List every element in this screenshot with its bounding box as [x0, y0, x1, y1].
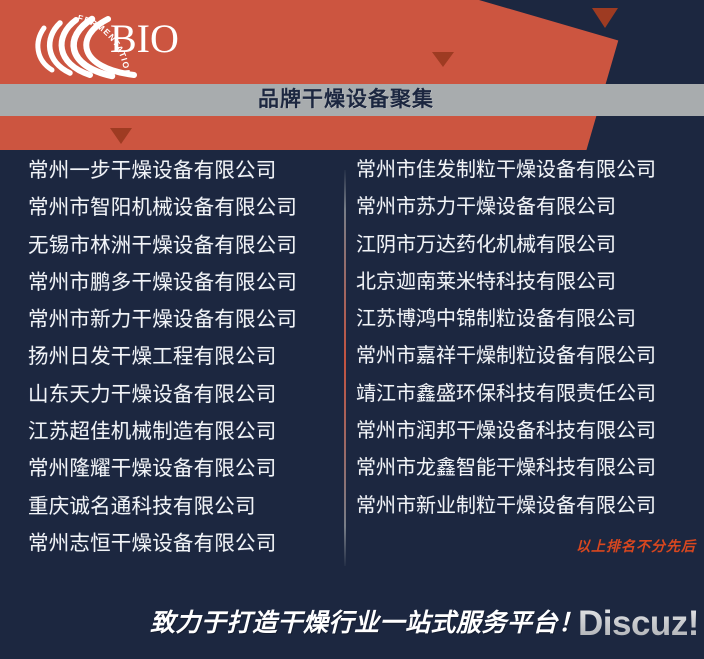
company-list-right: 常州市佳发制粒干燥设备有限公司 常州市苏力干燥设备有限公司 江阴市万达药化机械有… — [356, 152, 696, 525]
triangle-decoration-icon — [592, 8, 618, 28]
list-item: 常州市智阳机械设备有限公司 — [28, 189, 340, 226]
triangle-decoration-icon — [110, 128, 132, 144]
list-item: 常州志恒干燥设备有限公司 — [28, 525, 340, 562]
list-item: 常州市龙鑫智能干燥科技有限公司 — [356, 450, 696, 487]
list-item: 常州市新力干燥设备有限公司 — [28, 301, 340, 338]
logo-wordmark: BIO — [110, 18, 179, 60]
poster-root: FERMENTATION BIO 品牌干燥设备聚集 常州一步干燥设备有限公司 常… — [0, 0, 704, 659]
list-item: 常州市润邦干燥设备科技有限公司 — [356, 413, 696, 450]
list-item: 靖江市鑫盛环保科技有限责任公司 — [356, 376, 696, 413]
company-list-left: 常州一步干燥设备有限公司 常州市智阳机械设备有限公司 无锡市林洲干燥设备有限公司… — [28, 152, 340, 562]
company-lists: 常州一步干燥设备有限公司 常州市智阳机械设备有限公司 无锡市林洲干燥设备有限公司… — [0, 152, 704, 572]
list-item: 常州市鹏多干燥设备有限公司 — [28, 264, 340, 301]
list-item: 无锡市林洲干燥设备有限公司 — [28, 227, 340, 264]
list-item: 常州市佳发制粒干燥设备有限公司 — [356, 152, 696, 189]
list-item: 江阴市万达药化机械有限公司 — [356, 227, 696, 264]
list-item: 常州一步干燥设备有限公司 — [28, 152, 340, 189]
header: FERMENTATION BIO 品牌干燥设备聚集 — [0, 0, 704, 150]
list-item: 常州市新业制粒干燥设备有限公司 — [356, 488, 696, 525]
banner-title: 品牌干燥设备聚集 — [258, 86, 434, 114]
footer-slogan: 致力于打造干燥行业一站式服务平台！ — [150, 603, 584, 639]
list-item: 重庆诚名通科技有限公司 — [28, 488, 340, 525]
list-item: 江苏超佳机械制造有限公司 — [28, 413, 340, 450]
column-divider — [344, 170, 346, 566]
bio-fermentation-logo: FERMENTATION BIO — [28, 12, 196, 84]
list-item: 常州市嘉祥干燥制粒设备有限公司 — [356, 338, 696, 375]
list-item: 常州隆耀干燥设备有限公司 — [28, 450, 340, 487]
list-item: 山东天力干燥设备有限公司 — [28, 376, 340, 413]
footer: 致力于打造干燥行业一站式服务平台！ Discuz! — [0, 572, 704, 659]
list-item: 江苏博鸿中锦制粒设备有限公司 — [356, 301, 696, 338]
discuz-watermark: Discuz! — [578, 604, 699, 644]
list-item: 扬州日发干燥工程有限公司 — [28, 338, 340, 375]
ranking-disclaimer-note: 以上排名不分先后 — [576, 536, 696, 556]
list-item: 北京迦南莱米特科技有限公司 — [356, 264, 696, 301]
list-item: 常州市苏力干燥设备有限公司 — [356, 189, 696, 226]
triangle-decoration-icon — [432, 52, 454, 67]
